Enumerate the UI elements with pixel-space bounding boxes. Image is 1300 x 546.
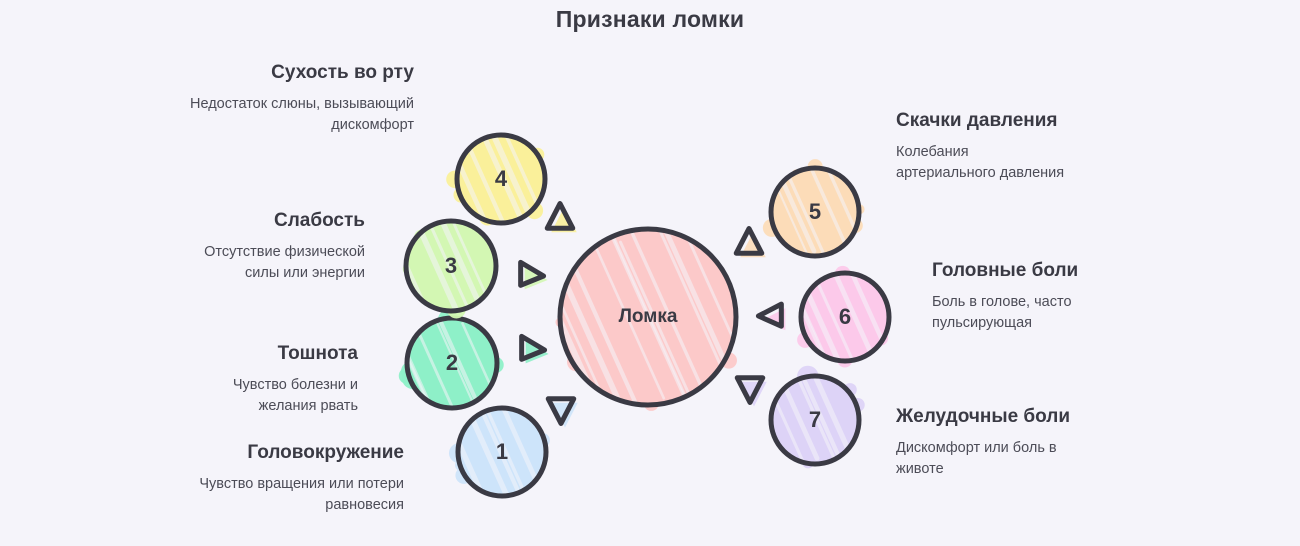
label-weakness: Слабость Отсутствие физической силы или … — [180, 208, 365, 284]
label-pressure-spikes-desc: Колебания артериального давления — [896, 142, 1071, 184]
label-headaches-desc: Боль в голове, часто пульсирующая — [932, 292, 1102, 334]
arrow-3 — [521, 262, 548, 289]
arrow-4 — [547, 204, 577, 233]
label-dizziness-title: Головокружение — [180, 440, 404, 465]
label-weakness-desc: Отсутствие физической силы или энергии — [180, 242, 365, 284]
label-dry-mouth: Сухость во рту Недостаток слюны, вызываю… — [180, 60, 414, 136]
diagram-canvas: Признаки ломки Сухость во рту Недостаток… — [0, 0, 1300, 546]
label-pressure-spikes-title: Скачки давления — [896, 108, 1071, 133]
label-headaches-title: Головные боли — [932, 258, 1102, 283]
label-nausea-title: Тошнота — [180, 341, 358, 366]
label-dry-mouth-desc: Недостаток слюны, вызывающий дискомфорт — [180, 94, 414, 136]
arrow-5 — [736, 229, 766, 258]
label-dry-mouth-title: Сухость во рту — [180, 60, 414, 85]
arrow-1 — [548, 399, 578, 428]
label-stomach-pain-title: Желудочные боли — [896, 404, 1086, 429]
label-nausea: Тошнота Чувство болезни и желания рвать — [180, 341, 358, 417]
label-pressure-spikes: Скачки давления Колебания артериального … — [896, 108, 1071, 184]
label-dizziness-desc: Чувство вращения или потери равновесия — [180, 474, 404, 516]
label-nausea-desc: Чувство болезни и желания рвать — [180, 375, 358, 417]
label-headaches: Головные боли Боль в голове, часто пульс… — [932, 258, 1102, 334]
label-stomach-pain-desc: Дискомфорт или боль в животе — [896, 438, 1086, 480]
arrow-2 — [522, 336, 549, 363]
label-weakness-title: Слабость — [180, 208, 365, 233]
arrow-7 — [737, 378, 767, 407]
label-dizziness: Головокружение Чувство вращения или поте… — [180, 440, 404, 516]
label-stomach-pain: Желудочные боли Дискомфорт или боль в жи… — [896, 404, 1086, 480]
arrow-6 — [758, 304, 785, 330]
center-node-fill — [503, 218, 758, 419]
